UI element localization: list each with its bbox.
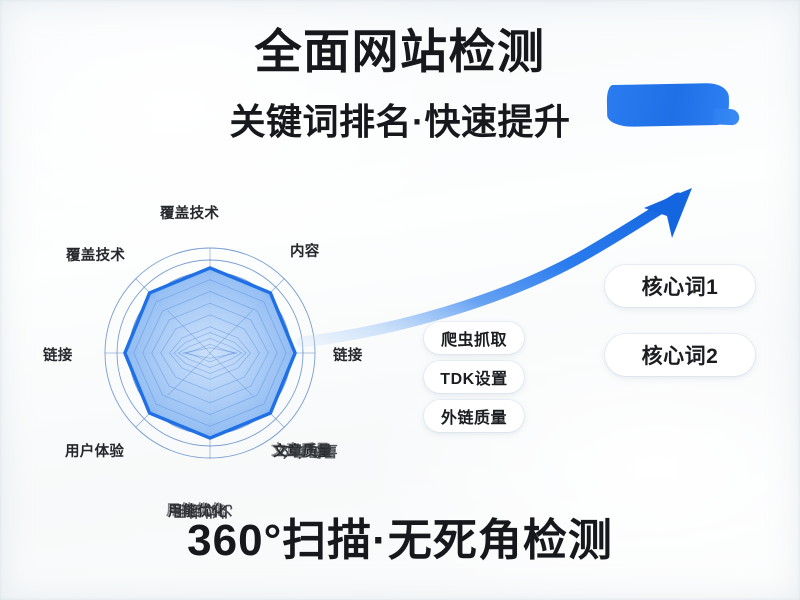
keyword-pill-1[interactable]: 核心词1	[605, 265, 755, 307]
radar-label-bottom-right-ghost2: 文章质量	[277, 441, 337, 462]
feature-pill-crawl[interactable]: 爬虫抓取	[424, 322, 524, 354]
feature-pill-tdk[interactable]: TDK设置	[424, 361, 524, 393]
keyword-pill-2[interactable]: 核心词2	[605, 334, 755, 376]
radar-label-top-left: 覆盖技术	[66, 244, 125, 265]
feature-pill-backlink-label: 外链质量	[441, 404, 507, 428]
page-title: 全面网站检测	[255, 26, 546, 79]
title-highlight-brush	[606, 83, 729, 127]
feature-pill-backlink[interactable]: 外链质量	[424, 400, 524, 432]
title-block: 全面网站检测 关键词排名·快速提升	[0, 26, 800, 145]
keyword-pill-2-label: 核心词2	[642, 340, 719, 370]
page-title-text: 全面网站检测	[255, 25, 546, 78]
feature-pill-tdk-label: TDK设置	[440, 365, 507, 389]
radar-label-top: 覆盖技术	[160, 202, 219, 223]
radar-label-bottom-right: 文章质量 文章质量 文章质量	[273, 440, 603, 461]
page-footer-title: 360°扫描·无死角检测	[0, 504, 800, 568]
radar-label-bottom-left: 用户体验	[65, 440, 124, 461]
feature-pill-crawl-label: 爬虫抓取	[441, 326, 507, 350]
radar-label-left: 链接	[43, 344, 73, 365]
keyword-pill-1-label: 核心词1	[642, 271, 719, 301]
